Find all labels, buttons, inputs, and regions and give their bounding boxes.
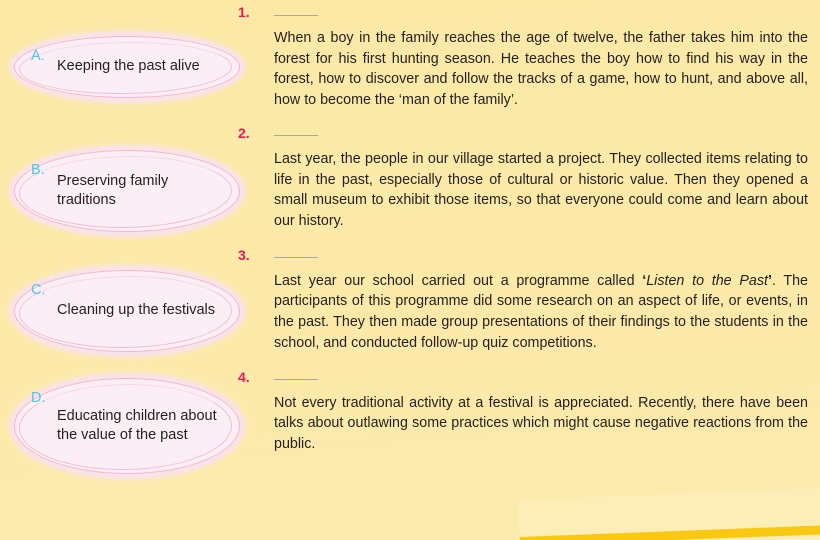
passage-1: 1. When a boy in the family reaches the … bbox=[238, 0, 820, 111]
passage-3-answer-blank[interactable] bbox=[274, 257, 318, 258]
passage-3-programme-title: Listen to the Past bbox=[646, 273, 768, 289]
passage-2-number: 2. bbox=[238, 125, 274, 141]
passage-3-text: Last year our school carried out a progr… bbox=[274, 271, 808, 354]
option-a[interactable]: A. Keeping the past alive bbox=[14, 36, 240, 98]
passage-3-text-before: Last year our school carried out a progr… bbox=[274, 273, 642, 289]
option-d-letter: D. bbox=[31, 389, 57, 408]
option-c-label: Cleaning up the festivals bbox=[57, 301, 223, 320]
option-b-oval[interactable]: B. Preserving family traditions bbox=[14, 150, 240, 232]
passage-1-text: When a boy in the family reaches the age… bbox=[274, 28, 808, 111]
option-a-oval[interactable]: A. Keeping the past alive bbox=[14, 36, 240, 98]
passage-4: 4. Not every traditional activity at a f… bbox=[238, 358, 820, 455]
option-d[interactable]: D. Educating children about the value of… bbox=[14, 378, 240, 474]
option-b-letter: B. bbox=[31, 161, 57, 180]
passage-1-head: 1. bbox=[238, 2, 820, 22]
passage-4-text: Not every traditional activity at a fest… bbox=[274, 393, 808, 455]
option-d-label: Educating children about the value of th… bbox=[57, 407, 223, 445]
passage-3-head: 3. bbox=[238, 245, 820, 265]
worksheet-page: A. Keeping the past alive B. Preserving … bbox=[0, 0, 820, 540]
passage-2-answer-blank[interactable] bbox=[274, 135, 318, 136]
passage-2: 2. Last year, the people in our village … bbox=[238, 115, 820, 232]
option-b[interactable]: B. Preserving family traditions bbox=[14, 150, 240, 232]
options-list: A. Keeping the past alive B. Preserving … bbox=[0, 0, 245, 540]
passages-list: 1. When a boy in the family reaches the … bbox=[238, 0, 820, 540]
passage-2-head: 2. bbox=[238, 123, 820, 143]
passage-4-number: 4. bbox=[238, 369, 274, 385]
passage-3: 3. Last year our school carried out a pr… bbox=[238, 236, 820, 354]
passage-2-text: Last year, the people in our village sta… bbox=[274, 149, 808, 232]
option-c-oval[interactable]: C. Cleaning up the festivals bbox=[14, 270, 240, 352]
passage-4-head: 4. bbox=[238, 367, 820, 387]
option-a-letter: A. bbox=[31, 47, 57, 66]
passage-3-number: 3. bbox=[238, 247, 274, 263]
option-d-oval[interactable]: D. Educating children about the value of… bbox=[14, 378, 240, 474]
option-c[interactable]: C. Cleaning up the festivals bbox=[14, 270, 240, 352]
option-b-label: Preserving family traditions bbox=[57, 172, 223, 210]
passage-1-number: 1. bbox=[238, 4, 274, 20]
option-c-letter: C. bbox=[31, 281, 57, 300]
option-a-label: Keeping the past alive bbox=[57, 57, 223, 76]
passage-1-answer-blank[interactable] bbox=[274, 15, 318, 16]
passage-4-answer-blank[interactable] bbox=[274, 379, 318, 380]
